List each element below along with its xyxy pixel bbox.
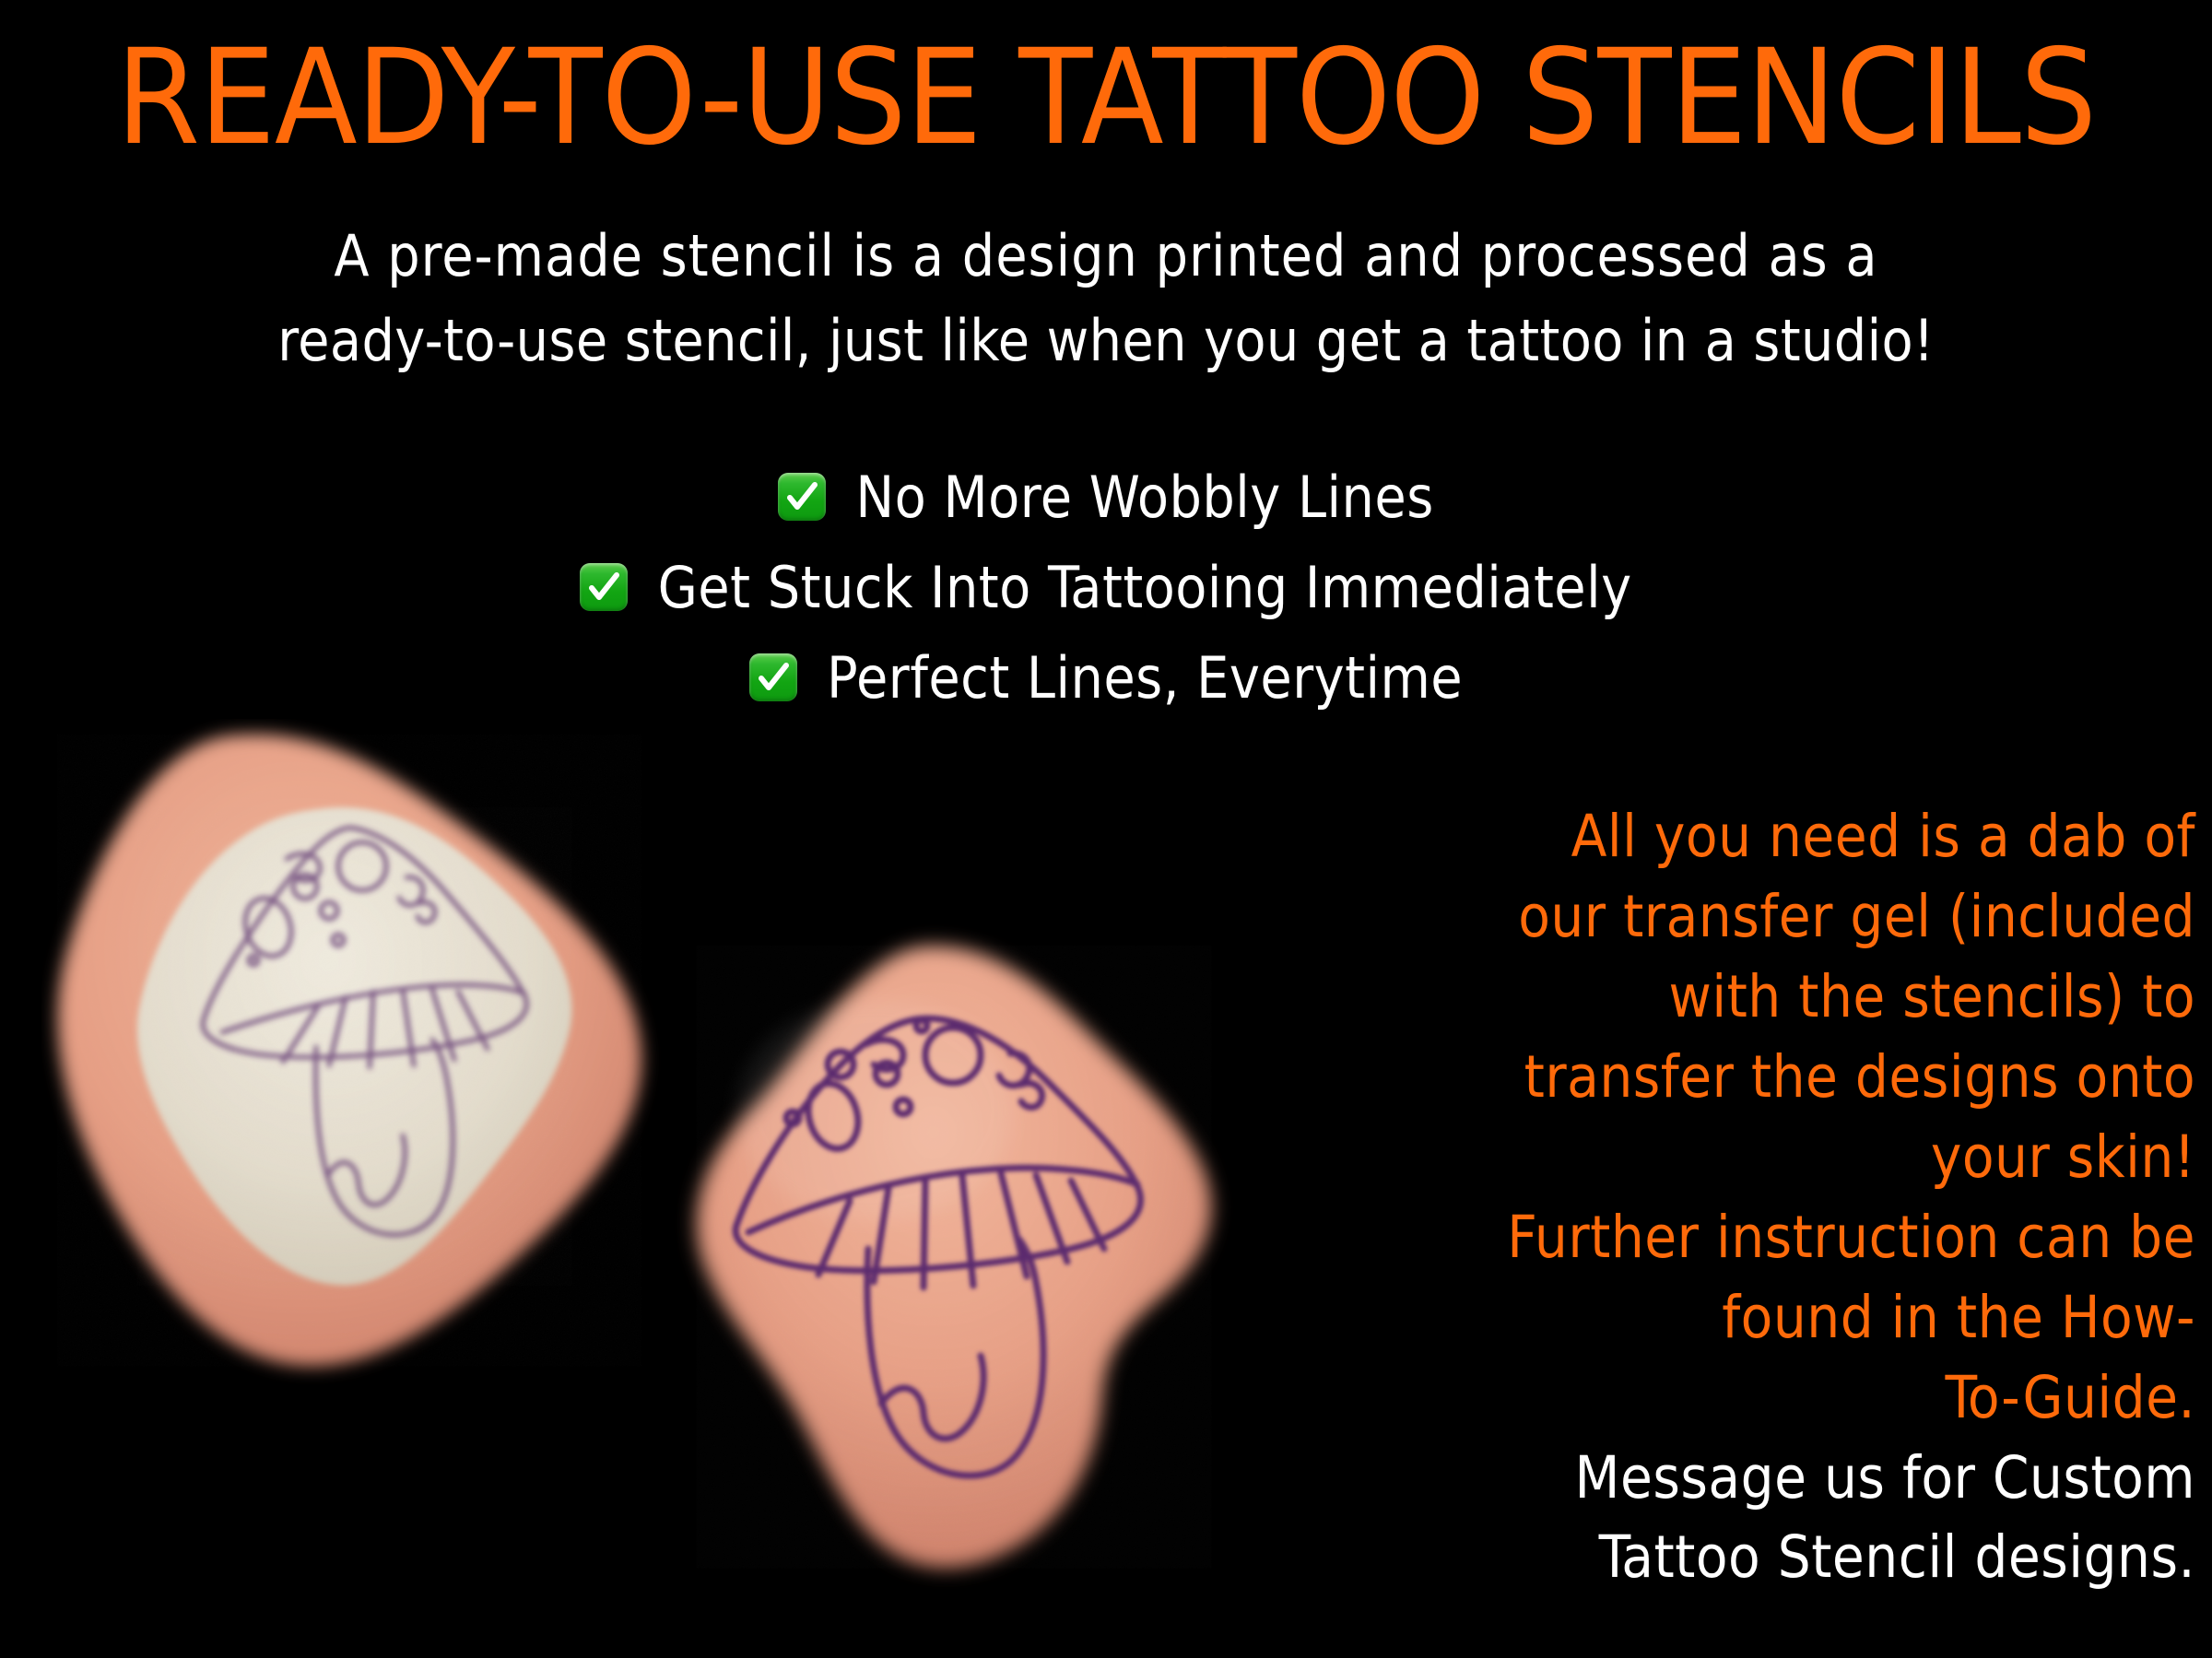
white-heavy-check-mark-icon bbox=[580, 563, 628, 611]
subtitle-line-2: ready-to-use stencil, just like when you… bbox=[18, 312, 2194, 370]
page-title: READY-TO-USE TATTOO STENCILS bbox=[0, 31, 2212, 163]
instructions-panel: All you need is a dab of our transfer ge… bbox=[1329, 797, 2195, 1598]
instruction-line: To-Guide. bbox=[1329, 1358, 2195, 1439]
instruction-line: All you need is a dab of bbox=[1329, 797, 2195, 877]
instruction-line: Further instruction can be bbox=[1329, 1198, 2195, 1278]
instruction-line: your skin! bbox=[1329, 1118, 2195, 1198]
list-item-label: No More Wobbly Lines bbox=[855, 464, 1433, 531]
feature-bullet-list: No More Wobbly Lines Get Stuck Into Tatt… bbox=[0, 465, 2212, 736]
white-heavy-check-mark-icon bbox=[749, 653, 797, 701]
instruction-line: found in the How- bbox=[1329, 1278, 2195, 1358]
list-item-label: Get Stuck Into Tattooing Immediately bbox=[658, 554, 1632, 621]
white-heavy-check-mark-icon bbox=[778, 473, 826, 521]
transferred-stencil-on-skin-photo bbox=[645, 880, 1272, 1608]
instruction-line: with the stencils) to bbox=[1329, 958, 2195, 1038]
list-item-label: Perfect Lines, Everytime bbox=[827, 644, 1463, 711]
custom-designs-line: Message us for Custom bbox=[1329, 1439, 2195, 1519]
custom-designs-line: Tattoo Stencil designs. bbox=[1329, 1518, 2195, 1598]
list-item: No More Wobbly Lines bbox=[0, 465, 2212, 526]
instruction-line: our transfer gel (included bbox=[1329, 877, 2195, 958]
poster-canvas: READY-TO-USE TATTOO STENCILS A pre-made … bbox=[0, 0, 2212, 1658]
stencil-paper-on-skin-photo bbox=[41, 719, 705, 1401]
subtitle-paragraph: A pre-made stencil is a design printed a… bbox=[18, 228, 2194, 370]
instruction-line: transfer the designs onto bbox=[1329, 1038, 2195, 1118]
list-item: Perfect Lines, Everytime bbox=[0, 646, 2212, 707]
subtitle-line-1: A pre-made stencil is a design printed a… bbox=[18, 228, 2194, 285]
list-item: Get Stuck Into Tattooing Immediately bbox=[0, 556, 2212, 617]
